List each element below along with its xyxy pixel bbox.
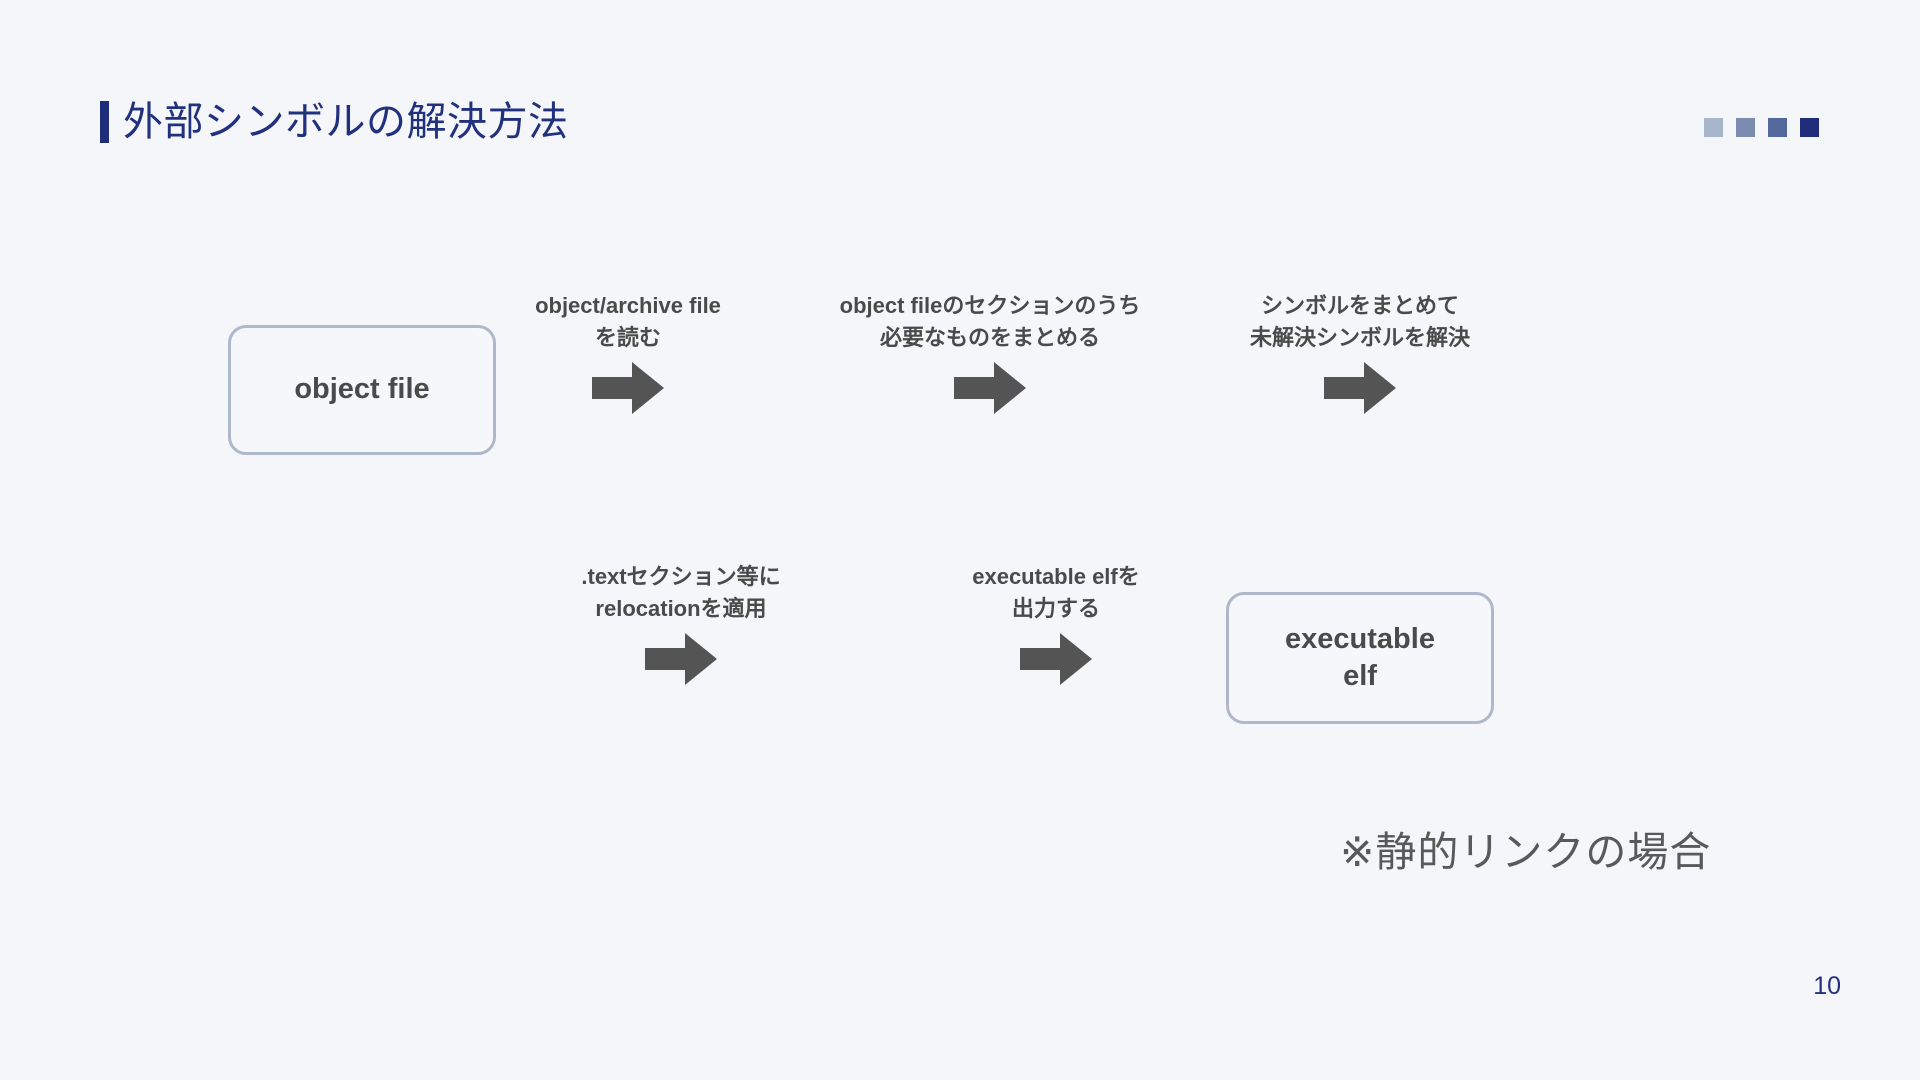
page-title: 外部シンボルの解決方法: [100, 101, 569, 143]
square-2-icon: [1736, 118, 1755, 137]
node-object-file: object file: [228, 325, 496, 455]
square-4-icon: [1800, 118, 1819, 137]
step-relocation-caption: .textセクション等に relocationを適用: [581, 561, 780, 626]
step-read: object/archive file を読む: [478, 290, 778, 416]
decor-squares: [1704, 118, 1819, 137]
step-read-caption: object/archive file を読む: [535, 290, 721, 355]
arrow-right-icon: [645, 631, 717, 687]
step-output-caption: executable elfを 出力する: [972, 561, 1140, 626]
title-text: 外部シンボルの解決方法: [123, 102, 569, 142]
arrow-right-icon: [1324, 360, 1396, 416]
square-3-icon: [1768, 118, 1787, 137]
step-sections: object fileのセクションのうち 必要なものをまとめる: [790, 290, 1190, 416]
arrow-right-icon: [954, 360, 1026, 416]
slide-header: 外部シンボルの解決方法: [0, 0, 1920, 180]
square-1-icon: [1704, 118, 1723, 137]
step-output: executable elfを 出力する: [906, 561, 1206, 687]
arrow-right-icon: [1020, 631, 1092, 687]
step-symbols: シンボルをまとめて 未解決シンボルを解決: [1195, 290, 1525, 416]
page-number: 10: [1813, 972, 1841, 1001]
title-accent-bar: [100, 101, 109, 143]
arrow-right-icon: [592, 360, 664, 416]
node-executable-elf: executable elf: [1226, 592, 1494, 724]
step-sections-caption: object fileのセクションのうち 必要なものをまとめる: [840, 290, 1141, 355]
step-symbols-caption: シンボルをまとめて 未解決シンボルを解決: [1250, 290, 1470, 355]
slide-canvas: 外部シンボルの解決方法 object file executable elf o…: [0, 0, 1920, 1080]
footnote-text: ※静的リンクの場合: [1340, 818, 1711, 878]
step-relocation: .textセクション等に relocationを適用: [516, 561, 846, 687]
